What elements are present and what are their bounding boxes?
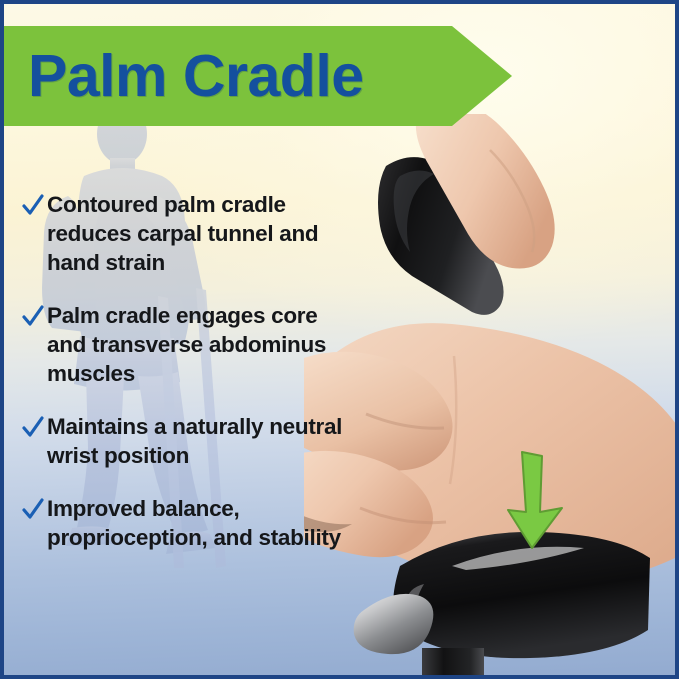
cane-shaft: [422, 648, 484, 679]
product-infographic: Palm Cradle Contoured palm cradle reduce…: [0, 0, 679, 679]
list-item: Palm cradle engages core and transverse …: [22, 301, 352, 388]
cane-metal-collar: [354, 594, 434, 654]
check-icon: [22, 412, 44, 442]
list-item-label: Improved balance, proprioception, and st…: [47, 494, 347, 552]
list-item-label: Contoured palm cradle reduces carpal tun…: [47, 190, 347, 277]
down-arrow-icon: [502, 450, 570, 550]
list-item-label: Maintains a naturally neutral wrist posi…: [47, 412, 347, 470]
list-item: Contoured palm cradle reduces carpal tun…: [22, 190, 352, 277]
list-item: Improved balance, proprioception, and st…: [22, 494, 352, 552]
list-item-label: Palm cradle engages core and transverse …: [47, 301, 347, 388]
check-icon: [22, 301, 44, 331]
check-icon: [22, 190, 44, 220]
list-item: Maintains a naturally neutral wrist posi…: [22, 412, 352, 470]
product-photo-hand-on-cane-handle: [304, 114, 679, 679]
page-title: Palm Cradle: [28, 26, 498, 126]
feature-list: Contoured palm cradle reduces carpal tun…: [22, 190, 352, 576]
check-icon: [22, 494, 44, 524]
